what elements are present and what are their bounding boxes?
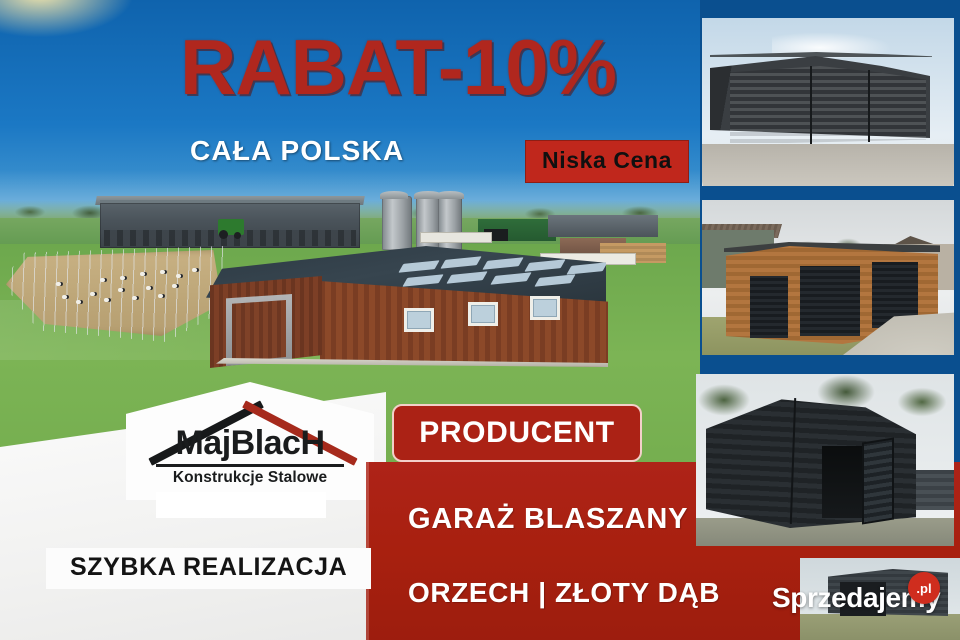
skylight — [482, 257, 523, 270]
white-shed — [420, 232, 492, 243]
company-logo: MajBlacH Konstrukcje Stalowe — [126, 382, 374, 500]
cow-icon — [132, 296, 139, 300]
skylight — [524, 259, 565, 272]
skylight — [398, 260, 439, 273]
skylight — [534, 274, 575, 287]
open-door-leaf — [862, 437, 894, 524]
lawn — [800, 614, 960, 640]
door-seam — [868, 70, 870, 142]
product-photo-2 — [702, 200, 954, 355]
building-window — [404, 308, 434, 332]
skylight — [402, 274, 443, 287]
logo-divider — [156, 464, 344, 467]
cow-icon — [90, 292, 97, 296]
watermark-tld-badge: .pl — [908, 572, 940, 604]
cow-icon — [76, 300, 83, 304]
garage-door — [750, 276, 788, 338]
skylight — [440, 256, 481, 269]
door-seam — [810, 66, 812, 144]
price-badge: Niska Cena — [525, 140, 689, 183]
cow-icon — [118, 288, 125, 292]
cow-icon — [56, 282, 63, 286]
cow-icon — [146, 286, 153, 290]
producer-badge: PRODUCENT — [392, 404, 642, 462]
garage-door — [800, 266, 860, 336]
cow-icon — [160, 270, 167, 274]
grey-barn — [548, 215, 658, 237]
cow-icon — [176, 274, 183, 278]
logo-blank-strip — [156, 492, 326, 518]
discount-headline: RABAT-10% — [180, 22, 616, 113]
logo-company-name: MajBlacH — [126, 424, 374, 463]
building-window — [468, 302, 498, 326]
product-title: GARAŻ BLASZANY — [408, 503, 688, 536]
cow-icon — [140, 272, 147, 276]
skylight — [446, 271, 487, 284]
product-photo-3 — [696, 374, 954, 546]
silo-icon — [382, 196, 412, 250]
product-photo-1 — [702, 18, 954, 186]
cow-icon — [172, 284, 179, 288]
door-opening — [822, 446, 864, 518]
garage-doors — [730, 66, 926, 146]
concrete-ground — [702, 144, 954, 186]
cow-icon — [100, 278, 107, 282]
skylight — [566, 262, 607, 275]
building-main-door — [232, 300, 286, 362]
logo-tagline: Konstrukcje Stalowe — [126, 469, 374, 487]
coverage-text: CAŁA POLSKA — [190, 135, 404, 167]
cow-icon — [104, 298, 111, 302]
finish-options: ORZECH | ZŁOTY DĄB — [408, 577, 720, 609]
cow-icon — [120, 276, 127, 280]
main-product-building — [196, 246, 608, 374]
building-window — [530, 296, 560, 320]
skylight — [490, 272, 531, 285]
delivery-badge: SZYBKA REALIZACJA — [46, 548, 371, 589]
cow-icon — [158, 294, 165, 298]
advertisement-banner: MajBlacH Konstrukcje Stalowe RABAT-10% C… — [0, 0, 960, 640]
cow-icon — [62, 295, 69, 299]
tractor-icon — [218, 219, 244, 235]
